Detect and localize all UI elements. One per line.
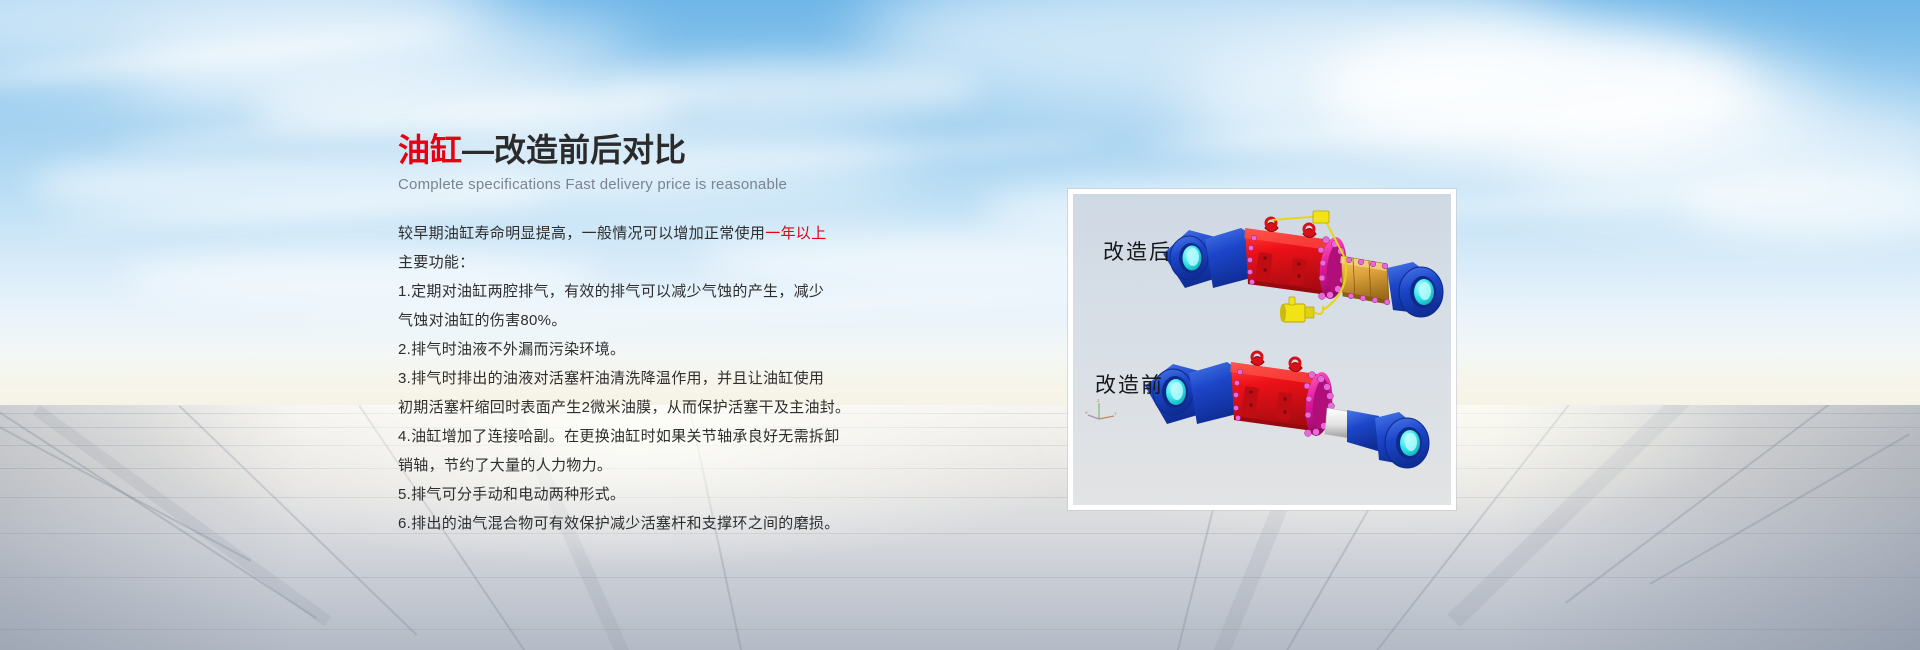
svg-text:Y: Y: [1114, 411, 1117, 416]
svg-text:X: X: [1085, 410, 1088, 415]
page-title-highlight: 油缸: [398, 132, 462, 168]
page-subtitle: Complete specifications Fast delivery pr…: [398, 176, 918, 193]
label-after-modification: 改造后: [1103, 236, 1172, 266]
hero-banner: 油缸—改造前后对比 Complete specifications Fast d…: [0, 0, 1920, 650]
feature-line: 3.排气时排出的油液对活塞杆油清洗降温作用，并且让油缸使用: [398, 364, 918, 393]
hero-text-block: 油缸—改造前后对比 Complete specifications Fast d…: [398, 132, 918, 538]
feature-line: 5.排气可分手动和电动两种形式。: [398, 480, 918, 509]
feature-line: 4.油缸增加了连接哈副。在更换油缸时如果关节轴承良好无需拆卸: [398, 422, 918, 451]
label-before-modification: 改造前: [1095, 369, 1164, 399]
feature-line-text: 较早期油缸寿命明显提高，一般情况可以增加正常使用: [398, 225, 765, 242]
svg-text:Z: Z: [1097, 399, 1100, 403]
page-title: 油缸—改造前后对比: [398, 132, 918, 169]
cylinder-render-before: [1135, 342, 1445, 492]
feature-line: 初期活塞杆缩回时表面产生2微米油膜，从而保护活塞干及主油封。: [398, 393, 918, 422]
page-title-rest: —改造前后对比: [462, 132, 686, 168]
feature-line-emphasis: 一年以上: [765, 225, 826, 242]
feature-line: 1.定期对油缸两腔排气，有效的排气可以减少气蚀的产生，减少: [398, 277, 918, 306]
feature-line: 销轴，节约了大量的人力物力。: [398, 451, 918, 480]
panel-canvas: 改造后 改造前 Z X Y: [1073, 194, 1451, 505]
rod-extension: [1347, 410, 1381, 452]
feature-list: 较早期油缸寿命明显提高，一般情况可以增加正常使用一年以上 主要功能： 1.定期对…: [398, 219, 918, 538]
feature-line: 主要功能：: [398, 248, 918, 277]
feature-line: 6.排出的油气混合物可有效保护减少活塞杆和支撑环之间的磨损。: [398, 509, 918, 538]
product-comparison-panel: 改造后 改造前 Z X Y: [1068, 189, 1456, 510]
axis-triad-icon: Z X Y: [1085, 399, 1119, 429]
sky-background: [0, 0, 1920, 420]
cylinder-eye-right: [1375, 412, 1429, 468]
cylinder-eye-right: [1387, 262, 1443, 317]
feature-line: 气蚀对油缸的伤害80%。: [398, 306, 918, 335]
feature-line: 2.排气时油液不外漏而污染环境。: [398, 335, 918, 364]
ground-pavement: [0, 405, 1920, 650]
cylinder-render-after: [1155, 208, 1451, 353]
feature-line: 较早期油缸寿命明显提高，一般情况可以增加正常使用一年以上: [398, 219, 918, 248]
